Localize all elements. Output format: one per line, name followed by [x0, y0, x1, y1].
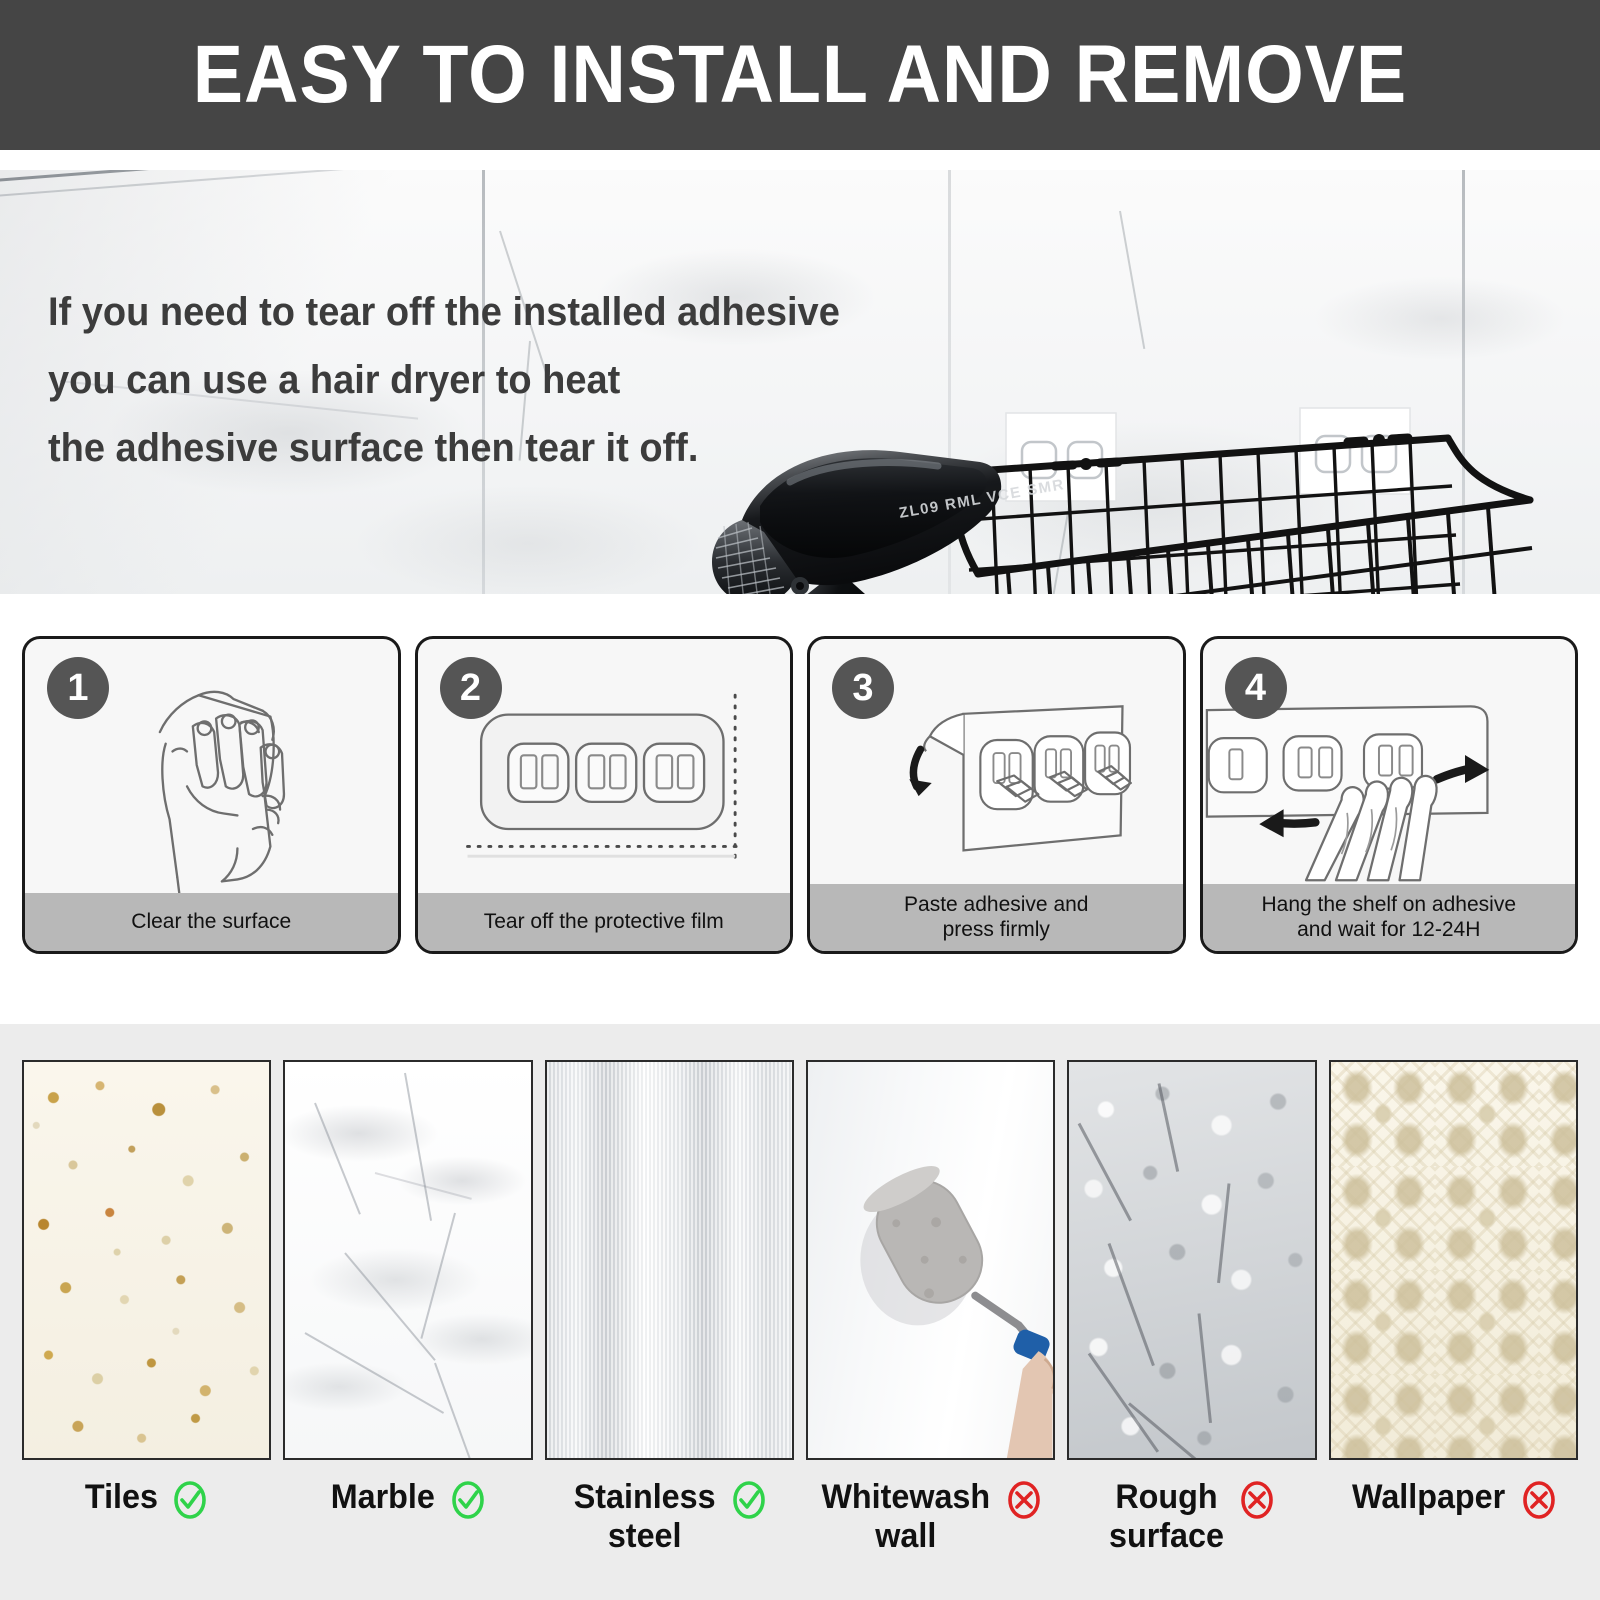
- surface-item-whitewash-wall: Whitewash wall: [806, 1060, 1055, 1556]
- swatch-image-wallpaper: [1329, 1060, 1578, 1460]
- surface-name-tiles: Tiles: [85, 1478, 158, 1517]
- hero-section: ZL09 RML VCE SMR If you need to tear off…: [0, 170, 1600, 594]
- surface-item-rough-surface: Rough surface: [1067, 1060, 1316, 1556]
- surface-item-marble: Marble: [283, 1060, 532, 1556]
- hero-line-3: the adhesive surface then tear it off.: [48, 414, 837, 482]
- swatch-image-marble: [283, 1060, 532, 1460]
- step-number-badge-1: 1: [47, 657, 109, 719]
- surface-label-rough-surface: Rough surface: [1067, 1478, 1316, 1556]
- check-circle-icon: [448, 1480, 488, 1525]
- hero-line-1: If you need to tear off the installed ad…: [48, 278, 837, 346]
- texture-rough-stucco: [1069, 1062, 1314, 1458]
- check-circle-icon: [170, 1480, 210, 1525]
- surface-label-stainless-steel: Stainless steel: [545, 1478, 794, 1556]
- surface-name-marble: Marble: [331, 1478, 435, 1517]
- swatch-row: Tiles: [22, 1060, 1578, 1556]
- swatch-image-stainless-steel: [545, 1060, 794, 1460]
- texture-damask-wallpaper: [1331, 1062, 1576, 1458]
- swatch-image-whitewash-wall: [806, 1060, 1055, 1460]
- step-card-4[interactable]: 4: [1200, 636, 1579, 954]
- adhesive-mount-pad-right: [1300, 408, 1410, 494]
- surface-label-tiles: Tiles: [22, 1478, 271, 1525]
- swatch-image-tiles: [22, 1060, 271, 1460]
- surface-item-stainless-steel: Stainless steel: [545, 1060, 794, 1556]
- texture-terrazzo: [24, 1062, 269, 1458]
- header-bar: EASY TO INSTALL AND REMOVE: [0, 0, 1600, 150]
- page-title: EASY TO INSTALL AND REMOVE: [193, 34, 1407, 116]
- cross-circle-icon: [1004, 1480, 1044, 1525]
- surface-item-wallpaper: Wallpaper: [1329, 1060, 1578, 1556]
- surface-item-tiles: Tiles: [22, 1060, 271, 1556]
- install-steps: 1: [0, 636, 1600, 972]
- step-number-badge-3: 3: [832, 657, 894, 719]
- cross-circle-icon: [1237, 1480, 1277, 1525]
- step-card-3[interactable]: 3: [807, 636, 1186, 954]
- step-caption-2: Tear off the protective film: [418, 893, 791, 951]
- paint-roller-illustration: [808, 1062, 1053, 1458]
- surface-name-stainless-steel: Stainless steel: [573, 1478, 715, 1556]
- surface-compatibility-section: Tiles: [0, 1024, 1600, 1600]
- infographic-page: EASY TO INSTALL AND REMOVE: [0, 0, 1600, 1600]
- step-number-badge-2: 2: [440, 657, 502, 719]
- hero-text-block: If you need to tear off the installed ad…: [48, 278, 878, 482]
- check-circle-icon: [729, 1480, 769, 1525]
- step-caption-4: Hang the shelf on adhesive and wait for …: [1203, 884, 1576, 951]
- step-caption-1: Clear the surface: [25, 893, 398, 951]
- step-number-badge-4: 4: [1225, 657, 1287, 719]
- swatch-image-rough-surface: [1067, 1060, 1316, 1460]
- surface-label-marble: Marble: [283, 1478, 532, 1525]
- surface-name-wallpaper: Wallpaper: [1352, 1478, 1505, 1517]
- surface-name-whitewash-wall: Whitewash wall: [821, 1478, 990, 1556]
- surface-label-wallpaper: Wallpaper: [1329, 1478, 1578, 1525]
- surface-label-whitewash-wall: Whitewash wall: [806, 1478, 1055, 1556]
- texture-brushed-steel: [547, 1062, 792, 1458]
- step-card-2[interactable]: 2: [415, 636, 794, 954]
- step-card-1[interactable]: 1: [22, 636, 401, 954]
- cross-circle-icon: [1519, 1480, 1559, 1525]
- surface-name-rough-surface: Rough surface: [1110, 1478, 1225, 1556]
- step-caption-3: Paste adhesive and press firmly: [810, 884, 1183, 951]
- hero-line-2: you can use a hair dryer to heat: [48, 346, 837, 414]
